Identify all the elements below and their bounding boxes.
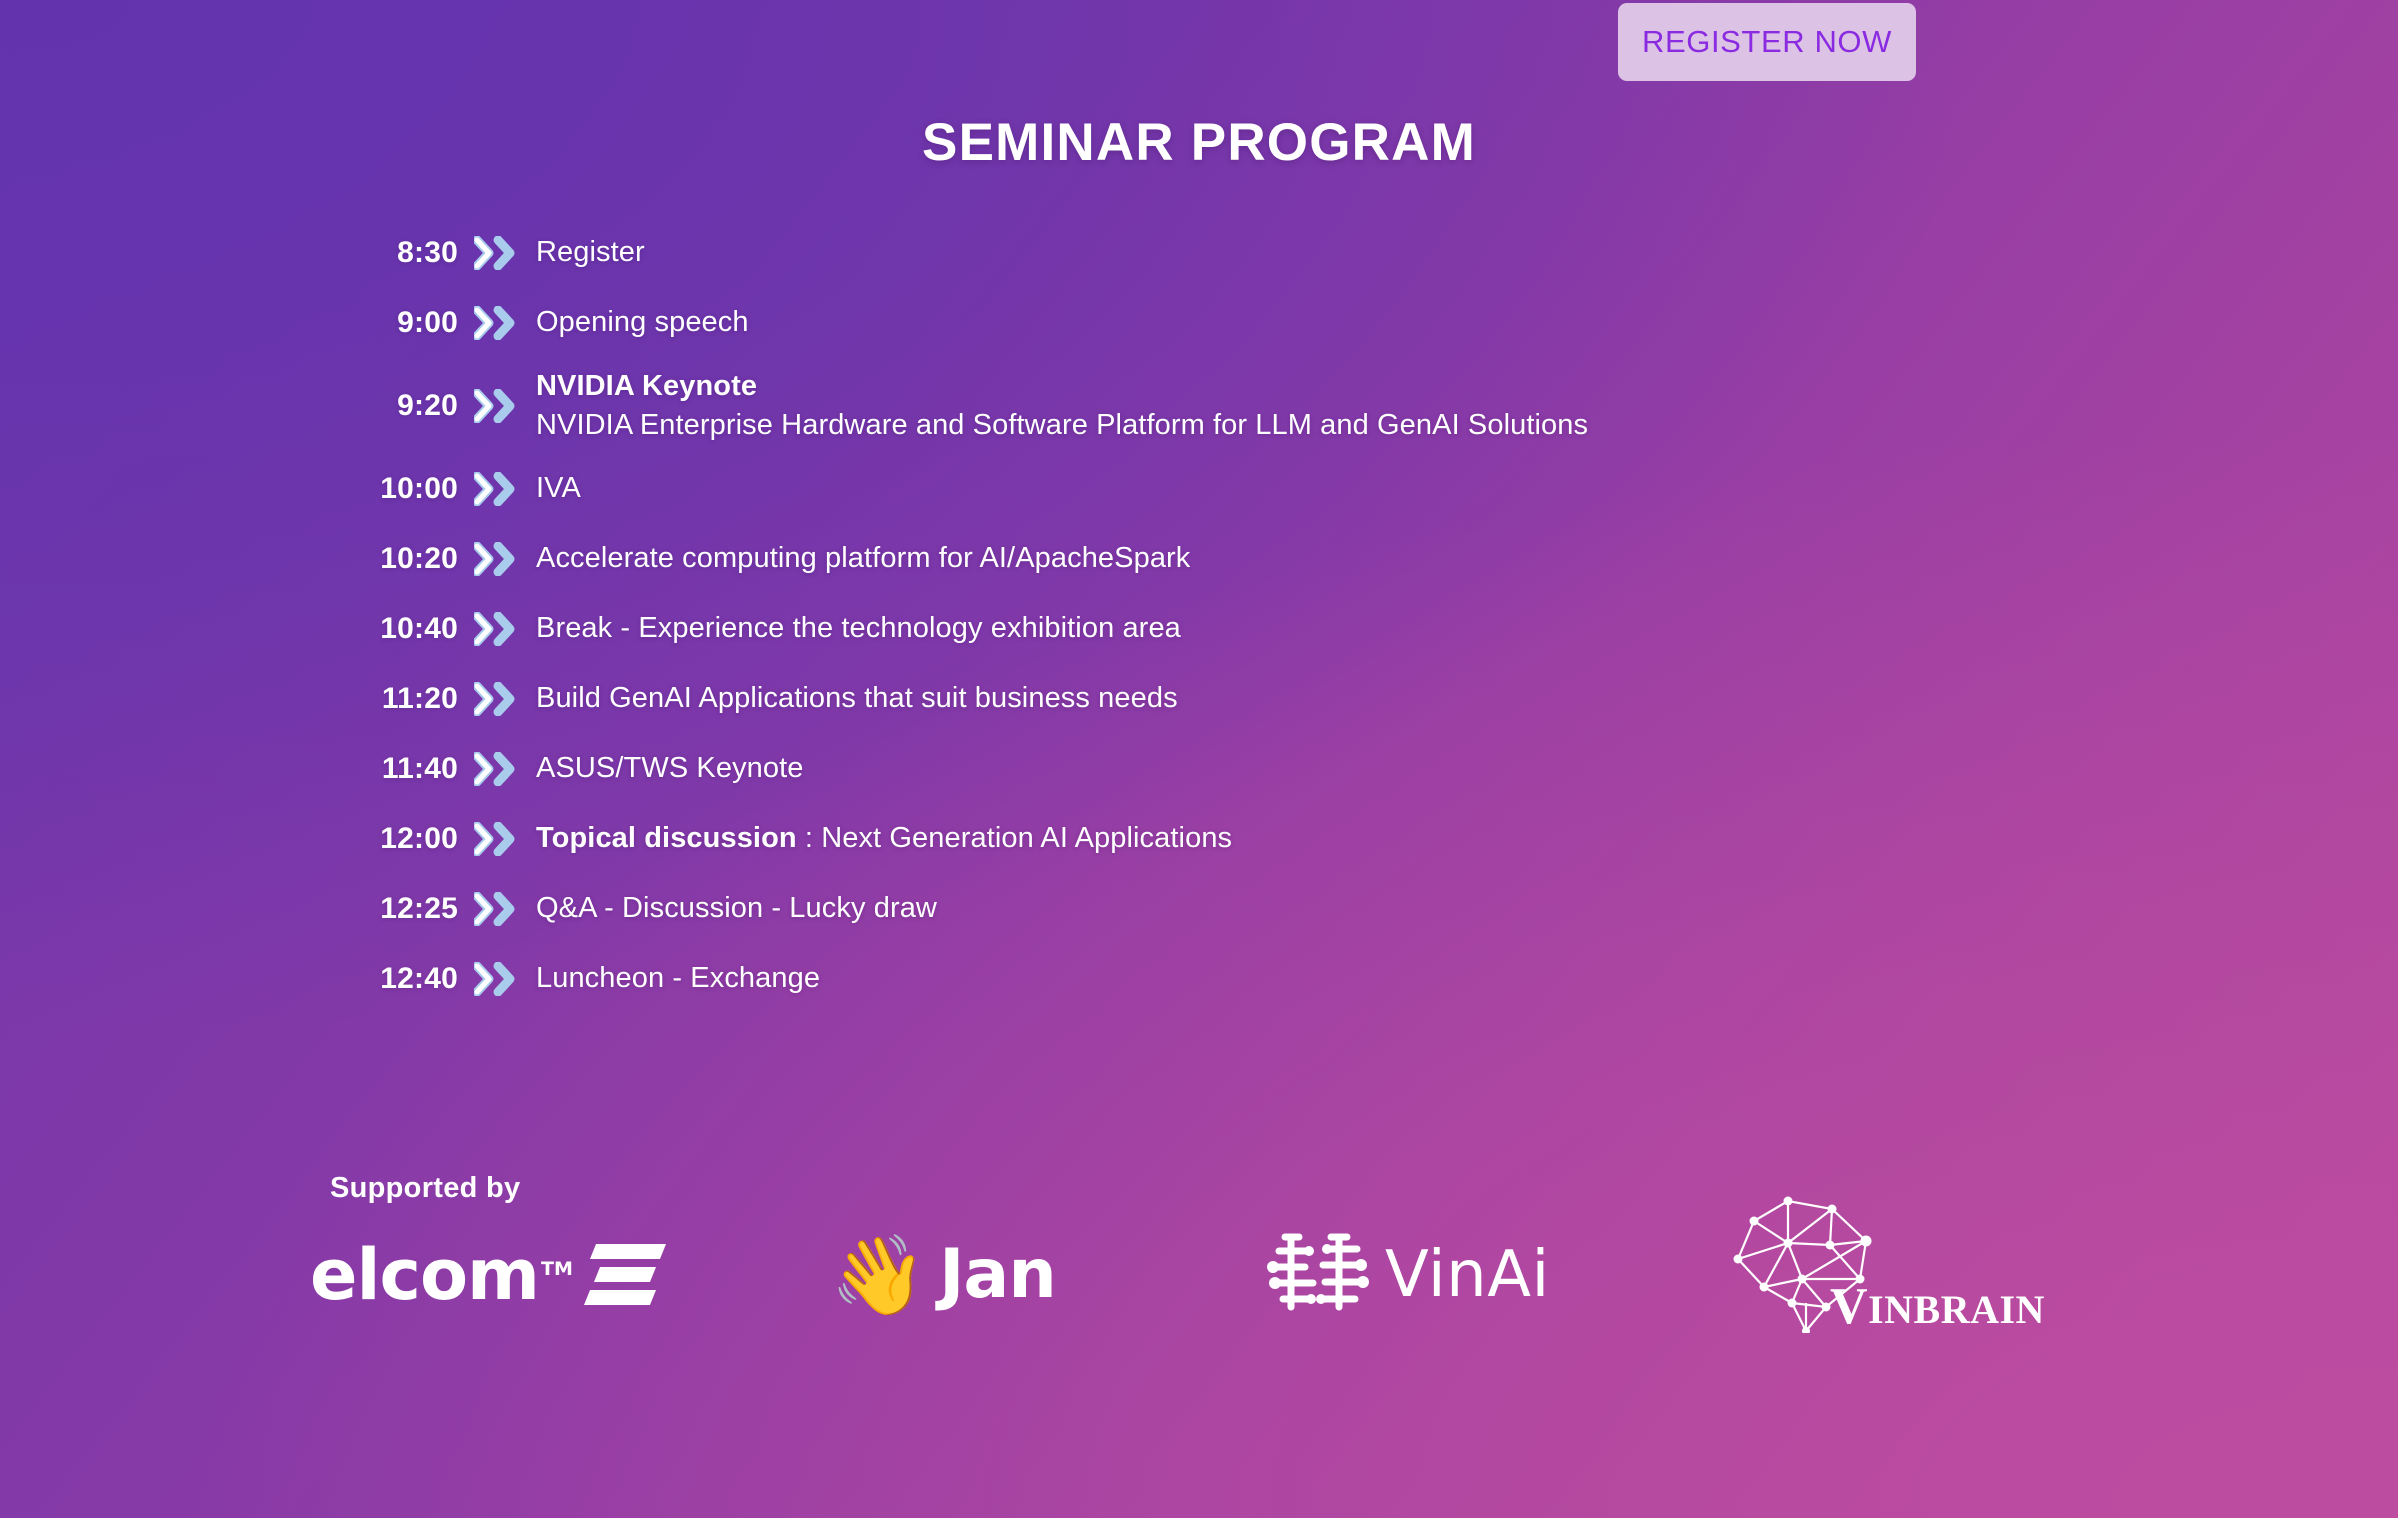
schedule-item-text: Q&A - Discussion - Lucky draw [536, 889, 1890, 928]
schedule-item-rest: : Next Generation AI Applications [797, 822, 1232, 854]
schedule-row: 12:25 Q&A - Discussion - Lucky draw [330, 874, 1890, 944]
double-chevron-right-icon [458, 306, 536, 340]
sponsor-logo-elcom: elcomTM [310, 1205, 657, 1345]
sponsor-logo-jan: 👋 Jan [830, 1205, 1056, 1345]
schedule-time: 9:20 [330, 389, 458, 423]
vinbrain-wordmark-rest: INBRAIN [1868, 1287, 2045, 1332]
schedule-item-subtitle: NVIDIA Enterprise Hardware and Software … [536, 406, 1890, 445]
sponsor-logo-vinai: VinAi [1265, 1205, 1550, 1345]
vinai-wordmark: VinAi [1385, 1243, 1550, 1307]
vinai-circuit-mark-icon [1265, 1227, 1371, 1324]
schedule-time: 10:00 [330, 472, 458, 506]
schedule-row: 11:40 ASUS/TWS Keynote [330, 734, 1890, 804]
schedule-row: 9:20 NVIDIA Keynote NVIDIA Enterprise Ha… [330, 358, 1890, 454]
schedule-time: 10:40 [330, 612, 458, 646]
schedule-item-text: Luncheon - Exchange [536, 959, 1890, 998]
schedule-row: 12:40 Luncheon - Exchange [330, 944, 1890, 1014]
schedule-time: 9:00 [330, 306, 458, 340]
elcom-bar-bottom [584, 1290, 656, 1305]
vinbrain-wordmark: VINBRAIN [1830, 1281, 2045, 1333]
schedule-row: 12:00 Topical discussion : Next Generati… [330, 804, 1890, 874]
schedule-item-text: Accelerate computing platform for AI/Apa… [536, 539, 1890, 578]
schedule-row: 11:20 Build GenAI Applications that suit… [330, 664, 1890, 734]
double-chevron-right-icon [458, 752, 536, 786]
schedule-row: 10:20 Accelerate computing platform for … [330, 524, 1890, 594]
vinbrain-wordmark-cap: V [1830, 1278, 1868, 1335]
page-title: SEMINAR PROGRAM [0, 112, 2398, 173]
elcom-bar-top [590, 1244, 666, 1259]
double-chevron-right-icon [458, 822, 536, 856]
double-chevron-right-icon [458, 682, 536, 716]
schedule-time: 12:25 [330, 892, 458, 926]
supported-by-label: Supported by [330, 1172, 521, 1205]
schedule-item-text: Register [536, 233, 1890, 272]
seminar-schedule-list: 8:30 Register 9:00 Opening speech 9:20 [330, 218, 1890, 1014]
schedule-row: 10:40 Break - Experience the technology … [330, 594, 1890, 664]
schedule-time: 11:20 [330, 682, 458, 716]
schedule-item-text: Opening speech [536, 303, 1890, 342]
schedule-time: 11:40 [330, 752, 458, 786]
elcom-wordmark: elcomTM [310, 1240, 573, 1310]
schedule-row: 10:00 IVA [330, 454, 1890, 524]
double-chevron-right-icon [458, 892, 536, 926]
double-chevron-right-icon [458, 612, 536, 646]
elcom-wordmark-text: elcom [310, 1234, 539, 1316]
double-chevron-right-icon [458, 542, 536, 576]
double-chevron-right-icon [458, 236, 536, 270]
vinbrain-logo-inner: VINBRAIN [1720, 1183, 2060, 1345]
schedule-item-text: NVIDIA Keynote NVIDIA Enterprise Hardwar… [536, 367, 1890, 446]
schedule-item-bold-prefix: Topical discussion [536, 822, 797, 854]
schedule-time: 12:40 [330, 962, 458, 996]
schedule-row: 9:00 Opening speech [330, 288, 1890, 358]
schedule-item-text: ASUS/TWS Keynote [536, 749, 1890, 788]
schedule-item-text: Topical discussion : Next Generation AI … [536, 819, 1890, 858]
schedule-time: 12:00 [330, 822, 458, 856]
double-chevron-right-icon [458, 962, 536, 996]
waving-hand-emoji-icon: 👋 [830, 1236, 927, 1314]
schedule-item-title: NVIDIA Keynote [536, 367, 1890, 406]
schedule-time: 10:20 [330, 542, 458, 576]
elcom-bar-middle [594, 1267, 656, 1282]
sponsor-logo-strip: elcomTM 👋 Jan [300, 1205, 2130, 1345]
register-now-button[interactable]: REGISTER NOW [1618, 3, 1916, 81]
double-chevron-right-icon [458, 472, 536, 506]
double-chevron-right-icon [458, 389, 536, 423]
schedule-item-text: Break - Experience the technology exhibi… [536, 609, 1890, 648]
schedule-item-text: Build GenAI Applications that suit busin… [536, 679, 1890, 718]
sponsor-logo-vinbrain: VINBRAIN [1720, 1183, 2060, 1323]
schedule-time: 8:30 [330, 236, 458, 270]
elcom-e-mark-icon [587, 1244, 657, 1306]
jan-wordmark: Jan [939, 1241, 1056, 1309]
elcom-trademark-symbol: TM [541, 1258, 573, 1280]
schedule-item-text: IVA [536, 469, 1890, 508]
schedule-row: 8:30 Register [330, 218, 1890, 288]
